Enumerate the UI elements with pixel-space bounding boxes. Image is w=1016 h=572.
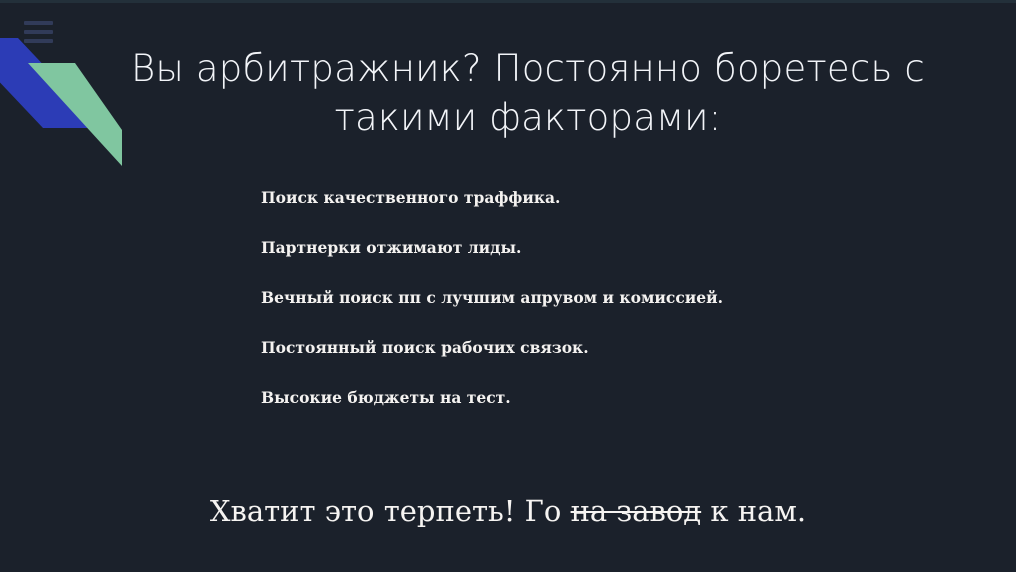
closing-text-after: к нам. bbox=[701, 494, 806, 528]
list-item: Партнерки отжимают лиды. bbox=[261, 240, 881, 290]
slide-root: Вы арбитражник? Постоянно боретесь с так… bbox=[0, 0, 1016, 572]
top-edge-strip bbox=[0, 0, 1016, 3]
page-title: Вы арбитражник? Постоянно боретесь с так… bbox=[128, 45, 928, 143]
hamburger-bar-1 bbox=[24, 21, 53, 25]
page-title-line-2: такими факторами: bbox=[128, 94, 928, 143]
brand-logo bbox=[0, 38, 130, 168]
list-item: Вечный поиск пп с лучшим апрувом и комис… bbox=[261, 290, 881, 340]
list-item: Поиск качественного траффика. bbox=[261, 190, 881, 240]
hamburger-bar-3 bbox=[24, 39, 53, 43]
page-title-line-1: Вы арбитражник? Постоянно боретесь с bbox=[131, 47, 925, 90]
list-item: Постоянный поиск рабочих связок. bbox=[261, 340, 881, 390]
closing-statement: Хватит это терпеть! Го на завод к нам. bbox=[0, 494, 1016, 528]
factor-list: Поиск качественного траффика. Партнерки … bbox=[261, 190, 881, 440]
closing-text-struck: на завод bbox=[571, 494, 702, 528]
list-item: Высокие бюджеты на тест. bbox=[261, 390, 881, 440]
hamburger-bar-2 bbox=[24, 30, 53, 34]
hamburger-icon[interactable] bbox=[24, 21, 53, 43]
closing-text-before: Хватит это терпеть! Го bbox=[210, 494, 571, 528]
